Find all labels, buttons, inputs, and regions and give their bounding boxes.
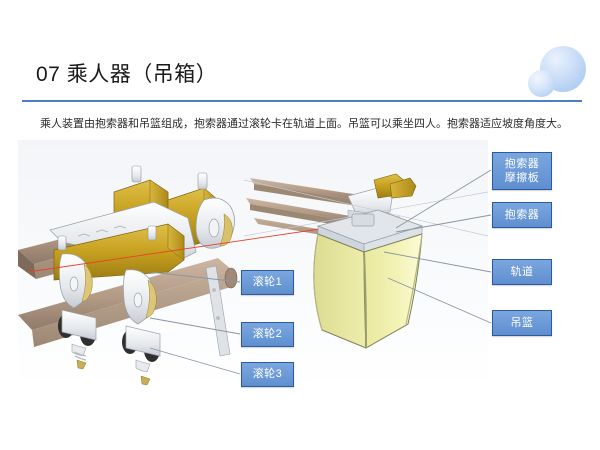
callout-grip[interactable]: 抱索器 [492,202,552,228]
callout-label-text: 吊篮 [511,317,534,330]
description-text: 乘人装置由抱索器和吊篮组成，抱索器通过滚轮卡在轨道上面。吊篮可以乘坐四人。抱索器… [40,117,570,132]
callout-cabin[interactable]: 吊篮 [492,310,552,336]
callout-label-text: 抱索器 [505,209,540,222]
callout-roller-1[interactable]: 滚轮1 [241,270,294,295]
callout-grip-friction-plate[interactable]: 抱索器 摩擦板 [492,152,552,190]
circle-small-icon [528,70,555,97]
callout-rail[interactable]: 轨道 [492,259,552,285]
illustration-cad-render [18,140,488,395]
callout-label-text: 轨道 [511,266,534,279]
page-title: 07 乘人器（吊箱） [36,58,217,88]
callout-line-1: 抱索器 [505,157,540,171]
title-divider [22,100,582,102]
callout-roller-2[interactable]: 滚轮2 [241,322,294,347]
callout-roller-3[interactable]: 滚轮3 [241,362,294,387]
grip-friction-plate-part [196,198,235,248]
callout-line-2: 摩擦板 [505,171,540,185]
callout-label-text: 滚轮1 [253,276,283,289]
callout-label-text: 滚轮2 [253,328,283,341]
slide-root: 07 乘人器（吊箱） 乘人装置由抱索器和吊篮组成，抱索器通过滚轮卡在轨道上面。吊… [0,0,600,450]
callout-label-text: 滚轮3 [253,368,283,381]
